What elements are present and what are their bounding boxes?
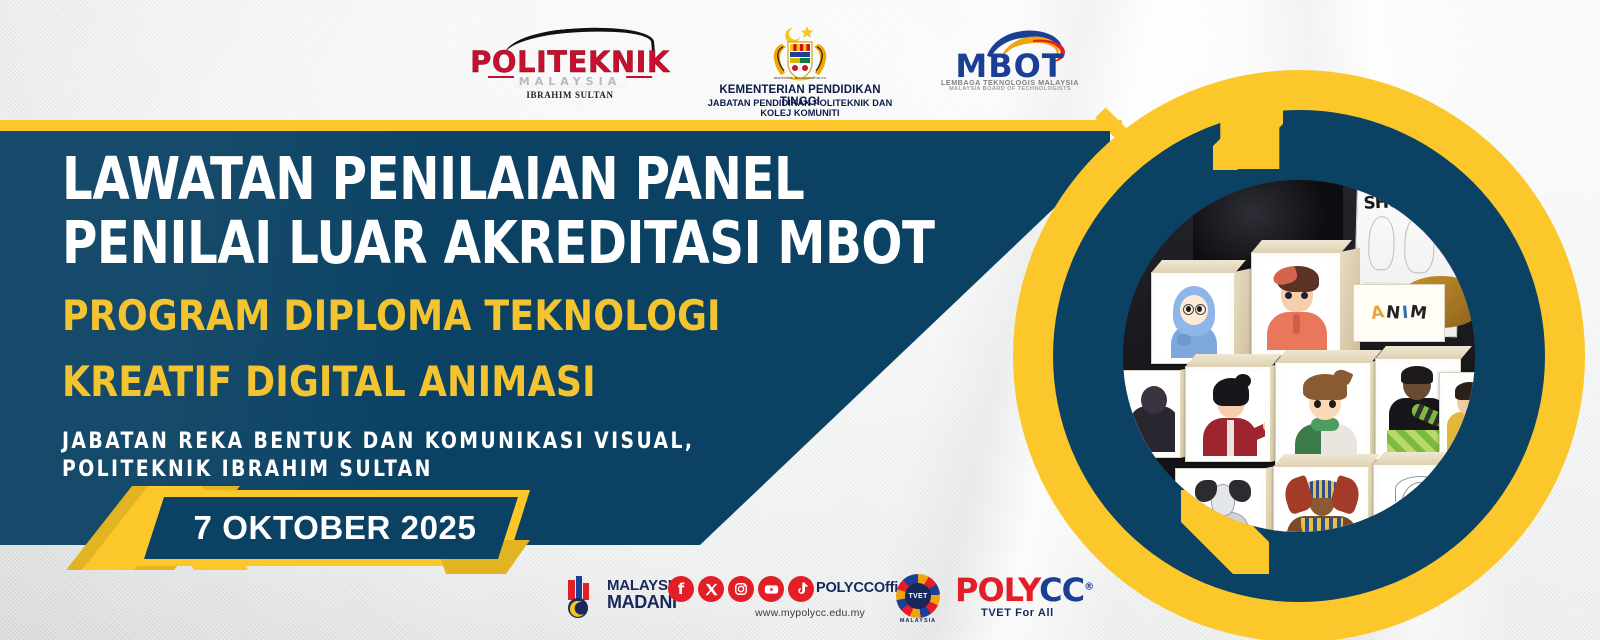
poster-title: SHOW — [1363, 191, 1420, 213]
program-line-2: KREATIF DIGITAL ANIMASI — [62, 360, 984, 405]
malaysia-coat-of-arms-icon: BERSEKUTU BERTAMBAH MUTU — [752, 22, 848, 84]
cube-top-face — [1375, 346, 1472, 359]
art-cube — [1439, 372, 1475, 458]
cube-top-face — [1151, 260, 1246, 273]
politeknik-campus-name: IBRAHIM SULTAN — [470, 90, 670, 100]
headline-line-1: LAWATAN PENILAIAN PANEL — [62, 150, 936, 208]
cube-artwork-red-shirt-man — [1257, 258, 1335, 350]
tiktok-icon[interactable] — [788, 576, 814, 602]
art-cube — [1185, 366, 1271, 462]
cube-artwork-yellow-figure — [1445, 378, 1475, 452]
polycc-tagline: TVET For All — [981, 607, 1054, 619]
x-icon[interactable] — [698, 576, 724, 602]
cube-artwork-knight-armor — [1181, 474, 1261, 532]
date-ribbon: 7 OKTOBER 2025 — [60, 478, 530, 570]
program-line-1: PROGRAM DIPLOMA TEKNOLOGI — [62, 294, 984, 339]
facebook-icon[interactable]: f — [668, 576, 694, 602]
cube-artwork-line-sketch-face — [1379, 470, 1455, 532]
cube-artwork-green-scarf-boy — [1281, 368, 1365, 460]
art-cube — [1123, 370, 1181, 458]
ministry-name-line2: JABATAN PENDIDIKAN POLITEKNIK DAN KOLEJ … — [692, 98, 908, 118]
polycc-cc: CC — [1039, 571, 1084, 609]
photo-scene: SHOW — [1123, 180, 1475, 532]
registered-mark: ® — [1084, 581, 1093, 592]
art-cube — [1273, 466, 1369, 532]
madani-tower-icon — [565, 576, 605, 618]
poster-canvas: POLITEKNIK MALAYSIA IBRAHIM SULTAN — [0, 0, 1600, 640]
cube-artwork-red-jacket-woman — [1191, 372, 1265, 456]
ministry-logo: BERSEKUTU BERTAMBAH MUTU KEMENTERIAN PEN… — [700, 22, 900, 102]
headline-line-2: PENILAI LUAR AKREDITASI MBOT — [62, 214, 936, 272]
gold-top-border — [0, 120, 1122, 131]
social-icon-row[interactable]: f — [668, 576, 814, 602]
cube-artwork-dark-figure — [1123, 376, 1175, 452]
art-cube — [1373, 464, 1461, 532]
politeknik-subtitle: MALAYSIA — [470, 75, 670, 88]
poster-sketch-2 — [1404, 215, 1436, 274]
polycc-logo: POLYCC® TVET For All — [955, 574, 1105, 624]
headline-block: LAWATAN PENILAIAN PANEL PENILAI LUAR AKR… — [62, 150, 1022, 484]
event-date: 7 OKTOBER 2025 — [144, 497, 518, 559]
youtube-icon[interactable] — [758, 576, 784, 602]
art-cube — [1175, 468, 1267, 532]
cube-top-face — [1373, 452, 1472, 465]
madani-line2: MADANI — [607, 593, 677, 611]
footer-logo-row: MALAYSIA MADANI f — [0, 566, 1020, 632]
event-photo: SHOW — [1123, 180, 1475, 532]
art-cube-anim-label: A N I M — [1353, 284, 1445, 342]
politeknik-malaysia-logo: POLITEKNIK MALAYSIA IBRAHIM SULTAN — [470, 30, 670, 102]
tvet-malaysia-logo: TVET MALAYSIA — [893, 572, 943, 624]
cube-top-face — [1275, 350, 1382, 363]
tvet-country: MALAYSIA — [893, 618, 943, 624]
tvet-mark: TVET — [896, 574, 940, 618]
instagram-icon[interactable] — [728, 576, 754, 602]
politeknik-wordmark: POLITEKNIK — [470, 48, 670, 77]
polycc-wordmark: POLYCC® — [955, 574, 1093, 606]
cube-top-face — [1185, 354, 1282, 367]
malaysia-madani-logo: MALAYSIA MADANI — [565, 574, 661, 620]
svg-text:BERSEKUTU BERTAMBAH MUTU: BERSEKUTU BERTAMBAH MUTU — [774, 76, 827, 80]
art-cube — [1151, 272, 1235, 364]
cube-top-face — [1273, 454, 1380, 467]
poster-sketch-1 — [1368, 216, 1395, 271]
art-cube — [1251, 252, 1341, 356]
circular-photo-badge: SHOW — [1013, 70, 1585, 640]
cube-artwork-pharaoh — [1279, 472, 1363, 532]
cube-artwork-hijab-girl — [1157, 278, 1229, 358]
polycc-poly: POLY — [955, 571, 1039, 609]
art-cube — [1275, 362, 1371, 466]
cube-top-face — [1251, 240, 1352, 253]
department-line-1: JABATAN REKA BENTUK DAN KOMUNIKASI VISUA… — [62, 427, 955, 456]
anim-label: A N I M — [1354, 285, 1444, 341]
